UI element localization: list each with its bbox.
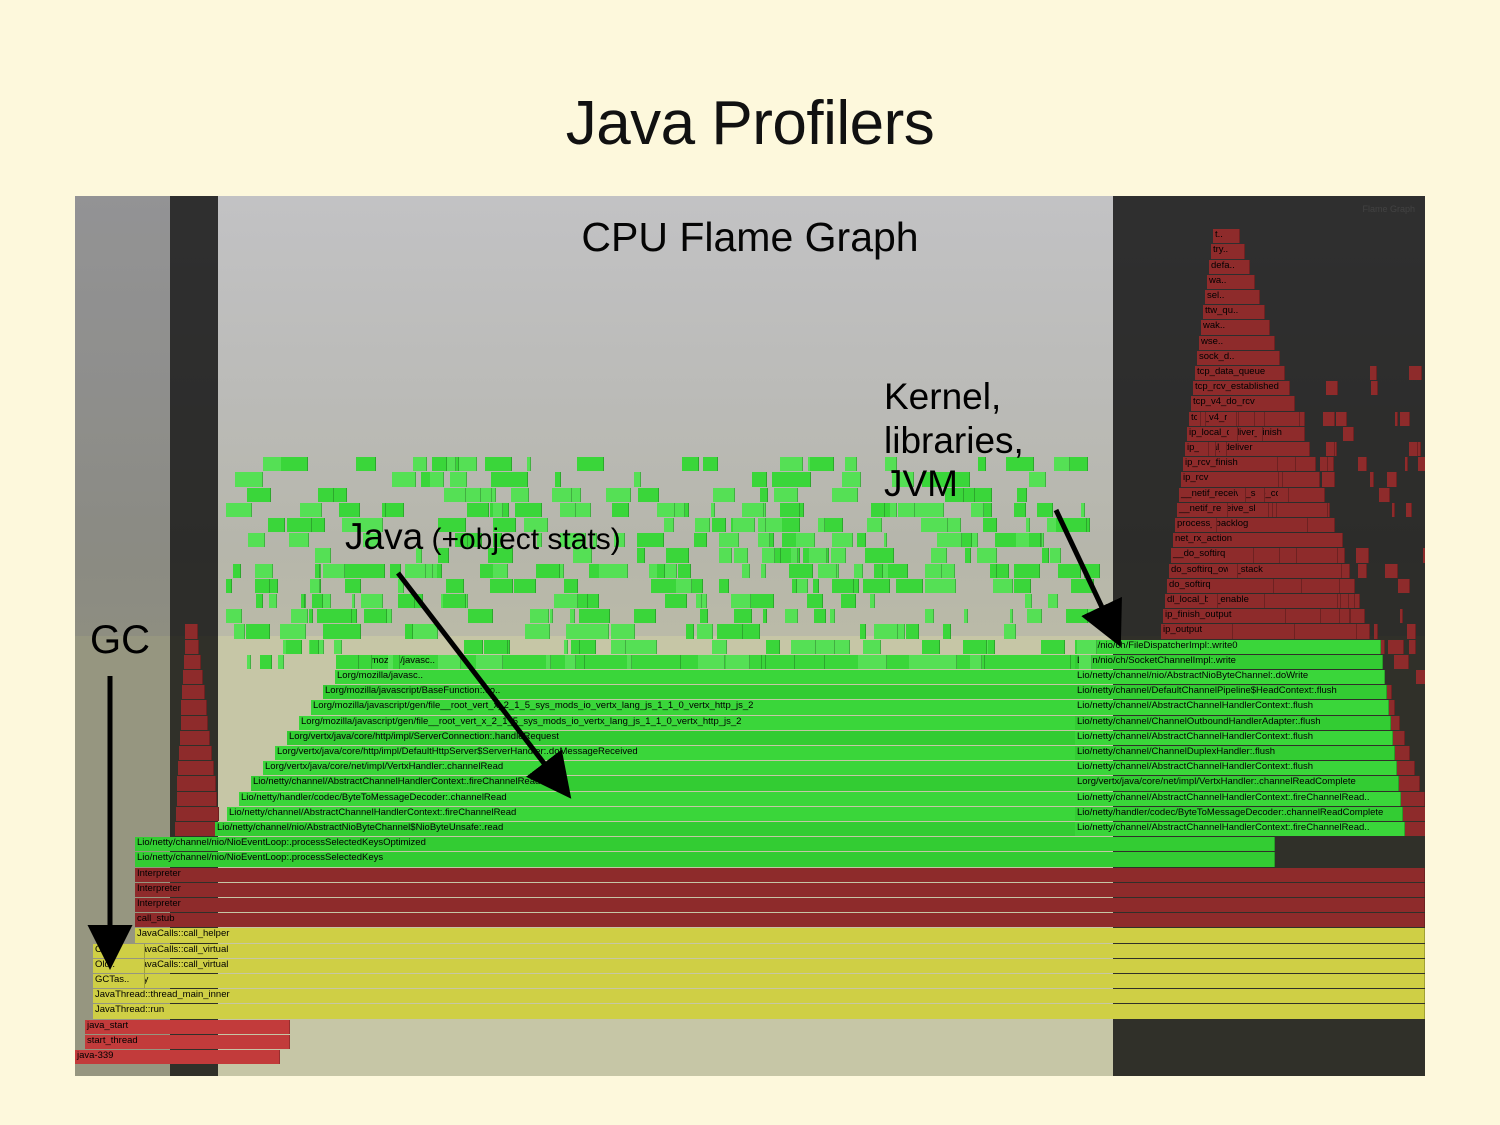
flame-frame-leaf[interactable]	[577, 655, 586, 669]
flame-frame-base[interactable]: thread_entry	[93, 974, 1425, 988]
flame-graph-title: CPU Flame Graph	[75, 214, 1425, 261]
flame-frame-leaf[interactable]	[1054, 457, 1070, 471]
flame-frame-leaf[interactable]	[485, 457, 512, 471]
flame-frame-leaf[interactable]	[318, 488, 334, 502]
flame-frame-gc[interactable]: Old..	[93, 959, 145, 973]
flame-frame-leaf[interactable]	[546, 655, 551, 669]
flame-frame-leaf[interactable]	[260, 579, 270, 593]
flame-frame-leaf[interactable]	[766, 640, 780, 654]
flame-frame-leaf[interactable]	[1029, 533, 1041, 547]
flame-frame-leaf[interactable]	[853, 472, 862, 486]
flame-frame-leaf[interactable]	[592, 624, 609, 638]
flame-frame-leaf[interactable]	[700, 609, 708, 623]
flame-frame-leaf[interactable]	[437, 564, 442, 578]
flame-frame-leaf[interactable]	[726, 655, 750, 669]
flame-frame-leaf[interactable]	[850, 488, 859, 502]
flame-frame-leaf[interactable]	[698, 655, 725, 669]
flame-frame-java-write[interactable]: Lio/netty/handler/codec/ByteToMessageDec…	[1075, 807, 1403, 821]
flame-frame-leaf[interactable]	[322, 594, 331, 608]
flame-frame-leaf[interactable]	[774, 488, 797, 502]
flame-frame-leaf[interactable]	[255, 564, 273, 578]
flame-frame-leaf[interactable]	[398, 594, 414, 608]
flame-frame-leaf[interactable]	[841, 594, 856, 608]
flame-frame-leaf[interactable]	[560, 503, 576, 517]
flame-frame-leaf[interactable]	[513, 472, 528, 486]
flame-frame-leaf[interactable]	[1010, 609, 1014, 623]
flame-frame-base[interactable]: java-339	[75, 1050, 280, 1064]
flame-frame-leaf[interactable]	[830, 609, 835, 623]
flame-frame-leaf[interactable]	[741, 624, 760, 638]
flame-frame-leaf[interactable]	[796, 533, 815, 547]
flame-frame-leaf[interactable]	[818, 564, 837, 578]
flame-frame-leaf[interactable]	[309, 609, 314, 623]
flame-frame-leaf[interactable]	[336, 655, 358, 669]
flame-frame-leaf[interactable]	[909, 655, 930, 669]
flame-frame-leaf[interactable]	[762, 518, 766, 532]
flame-frame-leaf[interactable]	[280, 624, 306, 638]
flame-frame-java-write[interactable]: Lsun/nio/ch/FileDispatcherImpl:.write0	[1075, 640, 1381, 654]
flame-frame-leaf[interactable]	[824, 640, 835, 654]
flame-frame-leaf[interactable]	[742, 503, 764, 517]
flame-frame-leaf[interactable]	[390, 564, 401, 578]
flame-frame-leaf[interactable]	[444, 488, 466, 502]
flame-frame-java[interactable]: Lorg/mozilla/javascript/gen/file__root_v…	[311, 700, 1159, 714]
flame-frame-leaf[interactable]	[1025, 594, 1032, 608]
flame-frame-leaf[interactable]	[289, 533, 309, 547]
flame-frame-java-write[interactable]: Lio/netty/channel/AbstractChannelHandler…	[1075, 792, 1401, 806]
flame-frame-leaf[interactable]	[686, 624, 695, 638]
flame-frame-leaf[interactable]	[792, 579, 797, 593]
page-title: Java Profilers	[0, 88, 1500, 159]
flame-frame-leaf[interactable]	[345, 579, 361, 593]
flame-frame-leaf[interactable]	[721, 548, 732, 562]
flame-frame-leaf[interactable]	[364, 609, 387, 623]
flame-frame-leaf[interactable]	[413, 624, 438, 638]
flame-frame-leaf[interactable]	[757, 594, 774, 608]
flame-frame-leaf[interactable]	[762, 548, 775, 562]
flame-frame-leaf[interactable]	[1027, 609, 1042, 623]
flame-frame-leaf[interactable]	[246, 624, 270, 638]
flame-frame-leaf[interactable]	[697, 624, 713, 638]
flame-frame-leaf[interactable]	[789, 564, 813, 578]
flame-frame-leaf[interactable]	[312, 594, 323, 608]
flame-frame-leaf[interactable]	[734, 548, 749, 562]
flame-frame-java[interactable]: Lorg/vertx/java/core/http/impl/ServerCon…	[287, 731, 1183, 745]
flame-frame-leaf[interactable]	[611, 640, 627, 654]
flame-frame-leaf[interactable]	[443, 594, 467, 608]
flame-frame-leaf[interactable]	[1037, 503, 1053, 517]
flame-frame-leaf[interactable]	[484, 640, 508, 654]
flame-frame-leaf[interactable]	[712, 640, 727, 654]
flame-frame-leaf[interactable]	[511, 488, 530, 502]
flame-frame-leaf[interactable]	[1014, 579, 1030, 593]
flame-frame-leaf[interactable]	[664, 518, 675, 532]
flame-frame-leaf[interactable]	[588, 594, 599, 608]
flame-frame-leaf[interactable]	[931, 548, 947, 562]
flame-frame-leaf[interactable]	[634, 609, 656, 623]
flame-frame-leaf[interactable]	[1067, 518, 1087, 532]
flame-frame-leaf[interactable]	[993, 579, 1013, 593]
flame-frame-leaf[interactable]	[814, 609, 826, 623]
flame-frame-leaf[interactable]	[676, 579, 692, 593]
flame-frame-leaf[interactable]	[536, 564, 560, 578]
flame-graph-panel[interactable]: [unknown]system_call_fastpathsys_writevf…	[75, 196, 1425, 1076]
flame-frame-leaf[interactable]	[965, 548, 971, 562]
flame-frame-leaf[interactable]	[791, 640, 816, 654]
flame-frame-leaf[interactable]	[884, 533, 887, 547]
flame-frame-leaf[interactable]	[937, 533, 962, 547]
flame-frame-leaf[interactable]	[719, 533, 739, 547]
flame-frame-leaf[interactable]	[588, 609, 610, 623]
flame-frame-leaf[interactable]	[432, 457, 447, 471]
flame-frame-leaf[interactable]	[256, 594, 263, 608]
flame-frame-leaf[interactable]	[1025, 457, 1035, 471]
flame-frame-leaf[interactable]	[788, 503, 800, 517]
flame-frame-leaf[interactable]	[760, 488, 768, 502]
flame-frame-leaf[interactable]	[669, 655, 681, 669]
flame-frame-leaf[interactable]	[493, 564, 508, 578]
flame-frame-leaf[interactable]	[696, 594, 702, 608]
flame-frame-leaf[interactable]	[361, 594, 383, 608]
flame-frame-leaf[interactable]	[491, 472, 514, 486]
flame-frame-java[interactable]: Lorg/vertx/java/core/http/impl/DefaultHt…	[275, 746, 1195, 760]
flame-frame-leaf[interactable]	[564, 579, 578, 593]
flame-frame-leaf[interactable]	[832, 533, 853, 547]
flame-frame-base[interactable]: java_start	[85, 1020, 290, 1034]
flame-frame-leaf[interactable]	[323, 564, 345, 578]
flame-frame-leaf[interactable]	[315, 548, 331, 562]
flame-frame-leaf[interactable]	[356, 457, 376, 471]
annotation-kernel-line3: JVM	[884, 462, 1024, 506]
flame-frame-leaf[interactable]	[734, 609, 752, 623]
annotation-kernel-line2: libraries,	[884, 419, 1024, 463]
flame-frame-leaf[interactable]	[810, 457, 834, 471]
flame-frame-leaf[interactable]	[963, 640, 987, 654]
flame-frame-leaf[interactable]	[269, 594, 277, 608]
flame-frame-leaf[interactable]	[783, 472, 811, 486]
flame-frame-leaf[interactable]	[490, 579, 513, 593]
flame-frame-java-write[interactable]: Lio/netty/channel/DefaultChannelPipeline…	[1075, 685, 1387, 699]
flame-frame-leaf[interactable]	[310, 640, 319, 654]
flame-frame-leaf[interactable]	[286, 640, 302, 654]
flame-frame-leaf[interactable]	[1046, 655, 1071, 669]
flame-frame-leaf[interactable]	[782, 518, 800, 532]
flame-frame-leaf[interactable]	[339, 503, 360, 517]
flame-frame-leaf[interactable]	[1081, 503, 1084, 517]
flame-frame-leaf[interactable]	[300, 503, 322, 517]
flame-frame-leaf[interactable]	[970, 655, 982, 669]
flame-frame-leaf[interactable]	[550, 609, 553, 623]
flame-frame-leaf[interactable]	[515, 503, 541, 517]
flame-frame-leaf[interactable]	[870, 594, 875, 608]
flame-frame-leaf[interactable]	[234, 624, 245, 638]
flame-frame-leaf[interactable]	[552, 488, 572, 502]
flame-frame-leaf[interactable]	[906, 624, 918, 638]
flame-frame-leaf[interactable]	[752, 472, 768, 486]
flame-frame-leaf[interactable]	[703, 457, 718, 471]
flame-frame-leaf[interactable]	[335, 624, 361, 638]
flame-frame-leaf[interactable]	[758, 533, 770, 547]
flame-frame-leaf[interactable]	[382, 503, 386, 517]
flame-frame-leaf[interactable]	[818, 518, 825, 532]
flame-frame-leaf[interactable]	[865, 548, 894, 562]
flame-frame-leaf[interactable]	[260, 655, 272, 669]
flame-frame-base[interactable]: JavaCalls::call_helper	[135, 928, 1425, 942]
flame-frame-leaf[interactable]	[935, 579, 956, 593]
flame-frame-leaf[interactable]	[227, 503, 252, 517]
flame-frame-leaf[interactable]	[1071, 579, 1095, 593]
flame-frame-java[interactable]: Lorg/mozilla/javasc..	[335, 670, 1135, 684]
flame-frame-base[interactable]: Lio/netty/channel/nio/NioEventLoop:.proc…	[135, 852, 1275, 866]
flame-frame-base[interactable]: Lio/netty/channel/nio/NioEventLoop:.proc…	[135, 837, 1275, 851]
flame-frame-leaf[interactable]	[450, 472, 467, 486]
flame-frame-leaf[interactable]	[695, 518, 710, 532]
flame-frame-leaf[interactable]	[1084, 564, 1100, 578]
flame-frame-leaf[interactable]	[822, 518, 843, 532]
flame-frame-leaf[interactable]	[247, 488, 270, 502]
flame-frame-leaf[interactable]	[464, 640, 484, 654]
flame-frame-leaf[interactable]	[334, 640, 341, 654]
flame-frame-leaf[interactable]	[1041, 640, 1065, 654]
flame-frame-leaf[interactable]	[564, 640, 568, 654]
flame-frame-leaf[interactable]	[630, 640, 657, 654]
flame-frame-leaf[interactable]	[780, 457, 803, 471]
flame-frame-leaf[interactable]	[1004, 624, 1016, 638]
flame-frame-leaf[interactable]	[430, 472, 444, 486]
flame-frame-leaf[interactable]	[310, 579, 320, 593]
flame-frame-leaf[interactable]	[301, 594, 305, 608]
flame-frame-leaf[interactable]	[577, 457, 604, 471]
flame-frame-leaf[interactable]	[1066, 609, 1087, 623]
flame-frame-leaf[interactable]	[727, 624, 742, 638]
flame-frame-leaf[interactable]	[869, 640, 881, 654]
flame-frame-leaf[interactable]	[467, 503, 489, 517]
flame-frame-leaf[interactable]	[554, 594, 578, 608]
flame-frame-java-write[interactable]: Lorg/vertx/java/core/net/impl/VertxHandl…	[1075, 776, 1399, 790]
flame-frame-leaf[interactable]	[570, 609, 574, 623]
flame-frame-leaf[interactable]	[233, 564, 241, 578]
flame-frame-base[interactable]: JavaThread::run	[93, 1004, 1425, 1018]
flame-frame-leaf[interactable]	[694, 533, 708, 547]
flame-frame-leaf[interactable]	[928, 655, 957, 669]
flame-frame-leaf[interactable]	[405, 624, 413, 638]
flame-frame-leaf[interactable]	[398, 579, 403, 593]
flame-frame-leaf[interactable]	[1058, 564, 1081, 578]
flame-frame-java[interactable]: Lorg/vertx/java/core/net/impl/VertxHandl…	[263, 761, 1207, 775]
flame-frame-leaf[interactable]	[888, 564, 907, 578]
flame-frame-leaf[interactable]	[983, 548, 997, 562]
flame-frame-leaf[interactable]	[854, 564, 863, 578]
flame-frame-leaf[interactable]	[715, 518, 726, 532]
flame-frame-leaf[interactable]	[599, 564, 627, 578]
flame-frame-java-write[interactable]: Lio/netty/channel/ChannelOutboundHandler…	[1075, 716, 1391, 730]
flame-frame-leaf[interactable]	[816, 655, 825, 669]
flame-frame-leaf[interactable]	[458, 457, 477, 471]
flame-frame-leaf[interactable]	[638, 488, 659, 502]
flame-frame-leaf[interactable]	[785, 609, 798, 623]
flame-frame-leaf[interactable]	[578, 594, 589, 608]
flame-frame-leaf[interactable]	[446, 579, 465, 593]
flame-frame-java[interactable]: Lorg/mozilla/javascript/gen/file__root_v…	[299, 716, 1171, 730]
slide-root: Java Profilers [unknown]system_call_fast…	[0, 0, 1500, 1125]
flame-graph-watermark: Flame Graph	[1362, 204, 1415, 214]
flame-frame-leaf[interactable]	[807, 594, 823, 608]
flame-frame-leaf[interactable]	[883, 655, 910, 669]
flame-frame-leaf[interactable]	[393, 655, 400, 669]
flame-frame-leaf[interactable]	[413, 457, 427, 471]
flame-frame-java[interactable]: Lorg/mozilla/javascript/BaseFunction:.co…	[323, 685, 1147, 699]
flame-frame-java-write[interactable]: Lio/netty/channel/nio/AbstractNioByteCha…	[1075, 670, 1385, 684]
flame-frame-leaf[interactable]	[352, 594, 355, 608]
flame-frame-leaf[interactable]	[392, 472, 416, 486]
flame-frame-leaf[interactable]	[299, 518, 312, 532]
flame-frame-leaf[interactable]	[627, 655, 632, 669]
flame-frame-leaf[interactable]	[530, 609, 549, 623]
flame-frame-leaf[interactable]	[666, 548, 689, 562]
flame-frame-leaf[interactable]	[1079, 655, 1092, 669]
flame-frame-leaf[interactable]	[1014, 564, 1040, 578]
flame-frame-leaf[interactable]	[1048, 594, 1058, 608]
flame-frame-leaf[interactable]	[493, 503, 503, 517]
flame-frame-java-write[interactable]: Lio/netty/channel/AbstractChannelHandler…	[1075, 822, 1405, 836]
flame-frame-leaf[interactable]	[364, 564, 385, 578]
flame-frame-leaf[interactable]	[1077, 640, 1096, 654]
flame-frame-leaf[interactable]	[761, 564, 765, 578]
flame-frame-leaf[interactable]	[248, 533, 265, 547]
flame-frame-base[interactable]: JavaThread::thread_main_inner	[93, 989, 1425, 1003]
flame-frame-leaf[interactable]	[682, 457, 699, 471]
flame-frame-leaf[interactable]	[776, 548, 781, 562]
flame-frame-leaf[interactable]	[921, 518, 948, 532]
flame-frame-leaf[interactable]	[278, 655, 284, 669]
flame-frame-leaf[interactable]	[471, 488, 481, 502]
flame-frame-leaf[interactable]	[386, 503, 404, 517]
flame-frame-java-write[interactable]: Lio/netty/channel/AbstractChannelHandler…	[1075, 761, 1397, 775]
flame-frame-leaf[interactable]	[678, 564, 691, 578]
flame-frame-base[interactable]: JavaCalls::call_virtual	[135, 944, 1425, 958]
flame-frame-java-write[interactable]: Lio/netty/channel/ChannelDuplexHandler:.…	[1075, 746, 1395, 760]
flame-frame-leaf[interactable]	[742, 564, 750, 578]
flame-frame-leaf[interactable]	[268, 518, 285, 532]
flame-frame-leaf[interactable]	[514, 579, 536, 593]
flame-frame-java-write[interactable]: Lio/netty/channel/AbstractChannelHandler…	[1075, 700, 1389, 714]
flame-frame-leaf[interactable]	[719, 579, 730, 593]
annotation-java-label: Java	[345, 516, 423, 557]
flame-frame-leaf[interactable]	[476, 655, 503, 669]
flame-frame-leaf[interactable]	[637, 548, 645, 562]
flame-frame-base[interactable]: Interpreter	[135, 883, 1425, 897]
flame-frame-leaf[interactable]	[1026, 518, 1030, 532]
flame-frame-leaf[interactable]	[860, 624, 866, 638]
flame-frame-leaf[interactable]	[874, 564, 883, 578]
flame-frame-leaf[interactable]	[408, 564, 425, 578]
flame-frame-base[interactable]: call_stub	[135, 913, 1425, 927]
flame-frame-leaf[interactable]	[281, 457, 308, 471]
flame-frame-leaf[interactable]	[831, 548, 846, 562]
flame-frame-leaf[interactable]	[849, 457, 857, 471]
flame-frame-leaf[interactable]	[657, 564, 665, 578]
flame-frame-leaf[interactable]	[315, 564, 320, 578]
flame-frame-leaf[interactable]	[468, 609, 493, 623]
flame-frame-leaf[interactable]	[990, 564, 998, 578]
flame-frame-leaf[interactable]	[438, 655, 461, 669]
flame-frame-leaf[interactable]	[711, 503, 715, 517]
flame-frame-base[interactable]: Interpreter	[135, 868, 1425, 882]
flame-frame-leaf[interactable]	[776, 655, 795, 669]
flame-frame-leaf[interactable]	[226, 609, 242, 623]
flame-frame-leaf[interactable]	[555, 472, 561, 486]
flame-frame-leaf[interactable]	[606, 488, 631, 502]
flame-frame-base[interactable]: Interpreter	[135, 898, 1425, 912]
flame-frame-leaf[interactable]	[335, 609, 352, 623]
annotation-kernel: Kernel, libraries, JVM	[884, 375, 1024, 506]
flame-frame-leaf[interactable]	[226, 579, 232, 593]
flame-frame-leaf[interactable]	[565, 655, 575, 669]
flame-frame-leaf[interactable]	[1050, 548, 1061, 562]
flame-frame-leaf[interactable]	[863, 579, 890, 593]
flame-frame-leaf[interactable]	[527, 457, 531, 471]
flame-frame-leaf[interactable]	[651, 579, 674, 593]
flame-frame-gc[interactable]: Car..	[93, 944, 145, 958]
flame-frame-leaf[interactable]	[925, 609, 934, 623]
flame-frame-leaf[interactable]	[731, 594, 751, 608]
flame-frame-leaf[interactable]	[485, 488, 493, 502]
flame-frame-leaf[interactable]	[832, 579, 854, 593]
flame-frame-leaf[interactable]	[763, 609, 766, 623]
flame-frame-leaf[interactable]	[925, 564, 942, 578]
flame-frame-base[interactable]: start_thread	[85, 1035, 290, 1049]
flame-frame-leaf[interactable]	[813, 579, 819, 593]
flame-frame-leaf[interactable]	[988, 640, 996, 654]
flame-frame-gc[interactable]: GCTas..	[93, 974, 145, 988]
flame-frame-java-write[interactable]: Lsun/nio/ch/SocketChannelImpl:.write	[1075, 655, 1383, 669]
flame-frame-leaf[interactable]	[665, 594, 688, 608]
flame-frame-leaf[interactable]	[1042, 548, 1050, 562]
flame-frame-leaf[interactable]	[612, 503, 629, 517]
flame-frame-leaf[interactable]	[661, 503, 675, 517]
flame-frame-leaf[interactable]	[291, 609, 308, 623]
flame-frame-leaf[interactable]	[532, 624, 550, 638]
flame-frame-leaf[interactable]	[922, 640, 940, 654]
flame-frame-leaf[interactable]	[858, 655, 887, 669]
flame-frame-leaf[interactable]	[943, 624, 951, 638]
flame-frame-leaf[interactable]	[770, 533, 774, 547]
flame-frame-leaf[interactable]	[809, 548, 826, 562]
flame-frame-leaf[interactable]	[571, 640, 580, 654]
flame-frame-java-write[interactable]: Lio/netty/channel/AbstractChannelHandler…	[1075, 731, 1393, 745]
flame-frame-leaf[interactable]	[874, 624, 898, 638]
flame-frame-leaf[interactable]	[634, 472, 641, 486]
flame-frame-leaf[interactable]	[896, 579, 923, 593]
flame-frame-leaf[interactable]	[247, 655, 251, 669]
flame-frame-leaf[interactable]	[964, 609, 968, 623]
flame-frame-leaf[interactable]	[713, 488, 735, 502]
flame-frame-leaf[interactable]	[857, 533, 866, 547]
flame-frame-leaf[interactable]	[867, 518, 881, 532]
flame-frame-base[interactable]: JavaCalls::call_virtual	[135, 959, 1425, 973]
flame-frame-leaf[interactable]	[940, 564, 955, 578]
flame-frame-leaf[interactable]	[791, 548, 797, 562]
flame-frame-java[interactable]: Lio/netty/channel/AbstractChannelHandler…	[251, 776, 1219, 790]
flame-frame-leaf[interactable]	[611, 624, 636, 638]
flame-frame-leaf[interactable]	[566, 624, 593, 638]
flame-frame-leaf[interactable]	[235, 472, 263, 486]
flame-frame-leaf[interactable]	[854, 579, 859, 593]
flame-frame-leaf[interactable]	[983, 518, 996, 532]
flame-frame-leaf[interactable]	[733, 518, 755, 532]
flame-frame-leaf[interactable]	[637, 533, 665, 547]
flame-frame-leaf[interactable]	[1029, 472, 1046, 486]
